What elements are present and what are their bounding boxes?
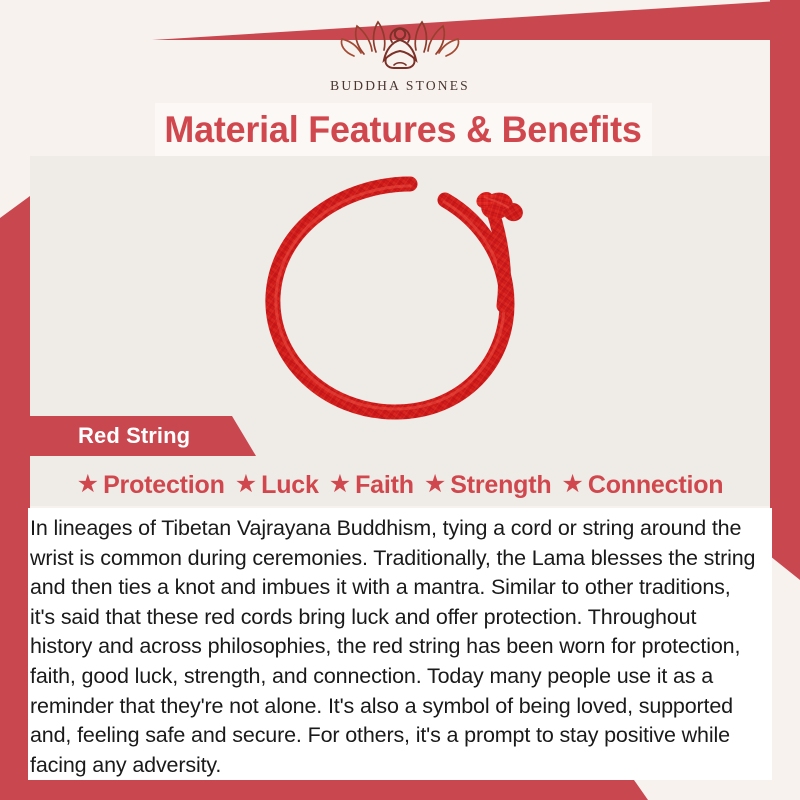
star-icon: ★ [329, 472, 351, 497]
feature-item-connection: ★ Connection [561, 471, 723, 500]
decor-bar-right [770, 0, 800, 800]
star-icon: ★ [561, 472, 583, 497]
feature-item-protection: ★ Protection [77, 471, 225, 500]
red-string-ribbon: Red String [0, 416, 256, 456]
lotus-meditation-icon [326, 12, 474, 76]
feature-list: ★ Protection ★ Luck ★ Faith ★ Strength ★… [30, 464, 770, 506]
feature-label: Faith [355, 471, 414, 500]
feature-label: Connection [588, 471, 724, 500]
description-paragraph: In lineages of Tibetan Vajrayana Buddhis… [30, 514, 758, 780]
description-panel: In lineages of Tibetan Vajrayana Buddhis… [28, 508, 772, 780]
feature-item-faith: ★ Faith [329, 471, 414, 500]
star-icon: ★ [235, 472, 257, 497]
brand-header: BUDDHA STONES [0, 0, 800, 105]
brand-wordmark: BUDDHA STONES [330, 78, 470, 94]
star-icon: ★ [77, 472, 99, 497]
decor-bar-left [0, 0, 30, 800]
feature-label: Strength [450, 471, 551, 500]
star-icon: ★ [424, 472, 446, 497]
red-string-bracelet-image [235, 164, 565, 432]
feature-label: Protection [103, 471, 225, 500]
feature-item-luck: ★ Luck [235, 471, 319, 500]
page-title: Material Features & Benefits [165, 109, 642, 151]
feature-item-strength: ★ Strength [424, 471, 552, 500]
title-band: Material Features & Benefits [155, 103, 652, 156]
ribbon-label: Red String [0, 423, 190, 449]
infographic-page: BUDDHA STONES Material Features & Benefi… [0, 0, 800, 800]
feature-label: Luck [261, 471, 319, 500]
